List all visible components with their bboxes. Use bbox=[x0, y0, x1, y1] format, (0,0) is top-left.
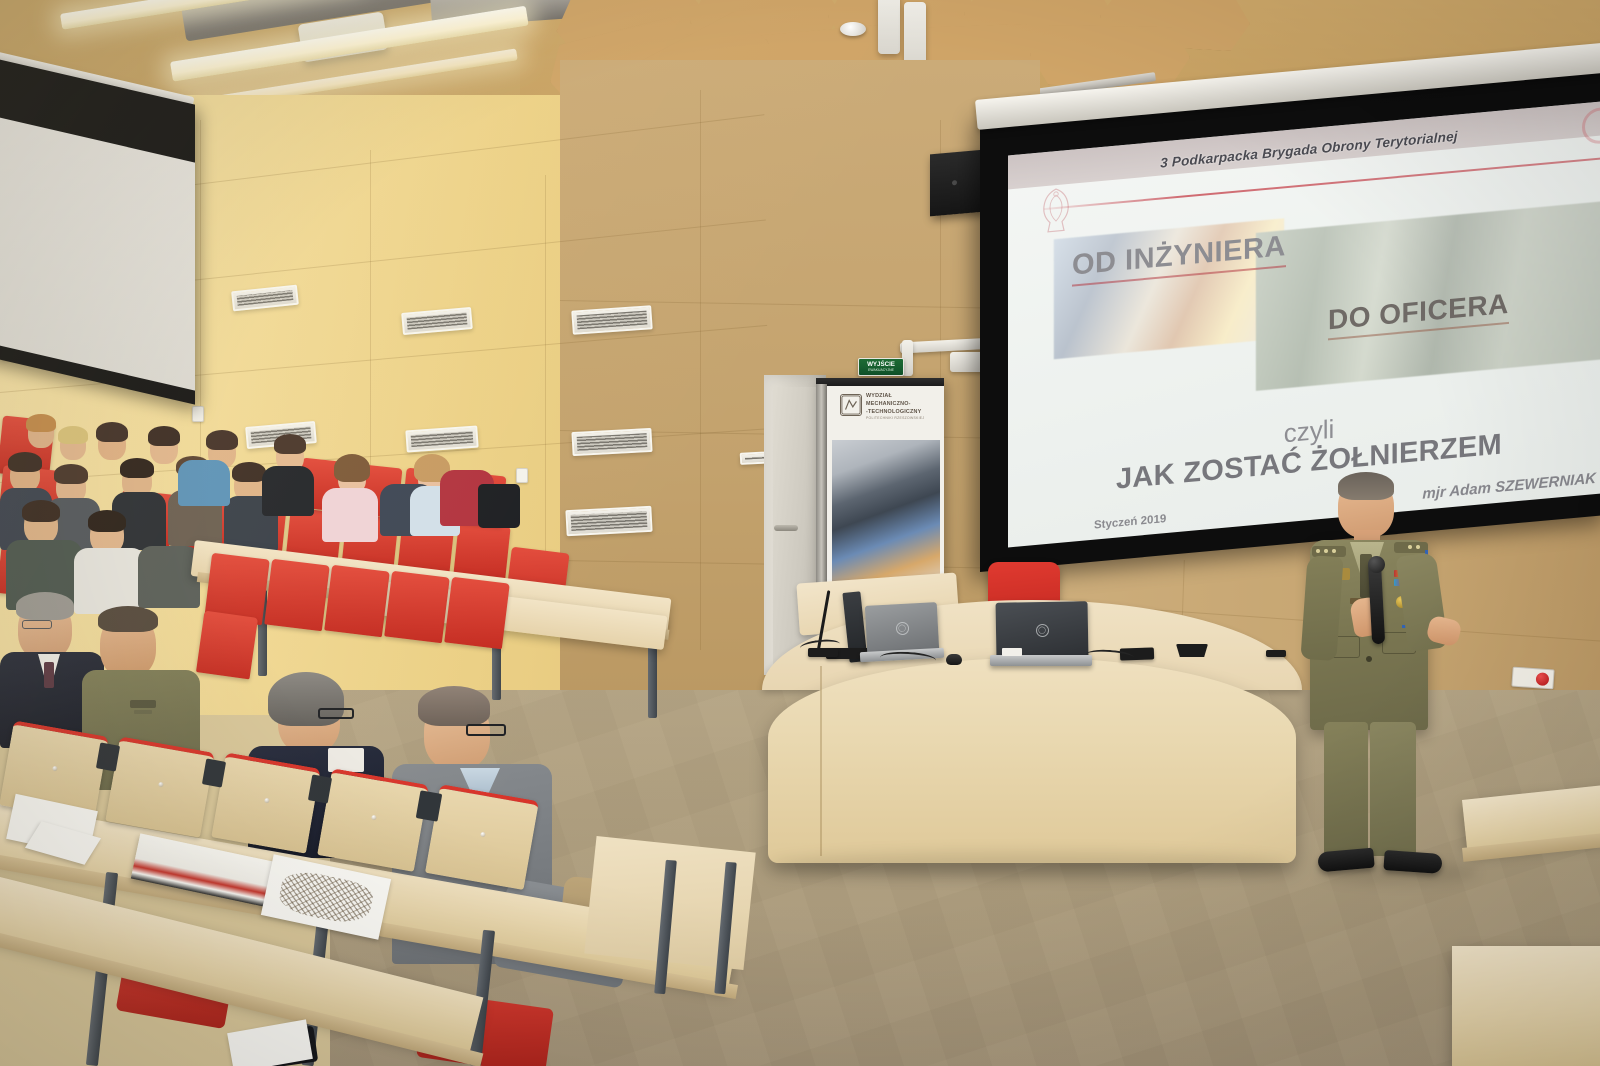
presenter-figure bbox=[1290, 470, 1480, 880]
exit-sign: WYJŚCIE EWAKUACYJNE bbox=[858, 358, 904, 376]
panel-seam bbox=[545, 175, 546, 565]
laptop-silver[interactable]: ◯ bbox=[865, 602, 939, 654]
rank-insignia bbox=[130, 700, 156, 708]
audience-hair bbox=[274, 434, 306, 454]
front-row-shirt-3 bbox=[328, 748, 364, 772]
pendant-light bbox=[878, 0, 900, 54]
dell-logo-icon: ◯ bbox=[1035, 623, 1048, 636]
audience-hair bbox=[8, 452, 42, 472]
rank-star-icon bbox=[1332, 549, 1336, 553]
lectern-front-panel bbox=[768, 658, 1296, 863]
banner-text-block: WYDZIAŁ MECHANICZNO- -TECHNOLOGICZNY POL… bbox=[866, 393, 940, 421]
smoke-detector-icon bbox=[840, 22, 866, 36]
audience-torso bbox=[138, 546, 200, 608]
auditorium-seat[interactable] bbox=[264, 559, 330, 632]
presenter-hair bbox=[1338, 472, 1394, 500]
remote-clicker[interactable] bbox=[1266, 650, 1286, 657]
banner-subtitle: POLITECHNIKI RZESZOWSKIEJ bbox=[866, 416, 940, 421]
presenter-trouser-right bbox=[1370, 722, 1416, 856]
light-switch[interactable] bbox=[192, 406, 204, 422]
pendant-light bbox=[904, 2, 926, 68]
auditorium-seat[interactable] bbox=[196, 611, 258, 680]
eyeglasses-icon bbox=[318, 708, 354, 719]
laptop-black-base bbox=[990, 655, 1092, 666]
exit-sign-line2: EWAKUACYJNE bbox=[868, 368, 894, 372]
eyeglasses-icon bbox=[466, 724, 506, 736]
banner-line3: -TECHNOLOGICZNY bbox=[866, 409, 940, 417]
lectern-panel-seam bbox=[820, 666, 822, 856]
front-row-hair-2 bbox=[98, 606, 158, 632]
polish-eagle-emblem bbox=[1036, 183, 1076, 239]
rank-insignia bbox=[134, 710, 152, 714]
audience-hair bbox=[88, 510, 126, 532]
emergency-stop-button[interactable] bbox=[1511, 667, 1554, 690]
presenter-shoe bbox=[1317, 848, 1375, 873]
audience-torso bbox=[262, 466, 314, 516]
desk-leg bbox=[648, 640, 657, 718]
wall-vent-grille bbox=[565, 506, 652, 536]
wooden-seat-back[interactable] bbox=[105, 736, 214, 837]
wooden-seat-back[interactable] bbox=[211, 752, 320, 853]
auditorium-seat[interactable] bbox=[453, 521, 510, 580]
auditorium-seat[interactable] bbox=[444, 577, 510, 650]
front-row-hair-4 bbox=[418, 686, 490, 726]
wooden-seat-back[interactable] bbox=[317, 768, 429, 872]
rank-star-icon bbox=[1324, 549, 1328, 553]
banner-top-rail bbox=[816, 378, 944, 386]
cable-connector bbox=[1176, 644, 1208, 657]
left-screen-surface bbox=[0, 113, 195, 391]
dell-logo-icon: ◯ bbox=[895, 621, 909, 635]
audience-hair bbox=[58, 426, 88, 444]
emergency-stop-dot-icon bbox=[1536, 672, 1550, 686]
foreground-desk-right-lower bbox=[1452, 946, 1600, 1066]
door-handle[interactable] bbox=[774, 525, 798, 531]
map-ink-detail bbox=[277, 867, 375, 928]
paper-sheet bbox=[227, 1019, 313, 1066]
rank-star-icon bbox=[1408, 545, 1412, 549]
audience-hair bbox=[232, 462, 266, 482]
faculty-logo-icon bbox=[840, 394, 862, 416]
audience-torso bbox=[178, 460, 230, 506]
presenter-shoe bbox=[1383, 850, 1442, 874]
banner-line2: MECHANICZNO- bbox=[866, 401, 940, 409]
audience-hair bbox=[206, 430, 238, 450]
rollup-banner: WYDZIAŁ MECHANICZNO- -TECHNOLOGICZNY POL… bbox=[816, 378, 944, 598]
microphone-head-icon bbox=[1368, 556, 1385, 573]
wall-vent-grille bbox=[571, 428, 652, 456]
left-projection-screen bbox=[0, 55, 195, 405]
slide-date-text: Styczeń 2019 bbox=[1094, 513, 1166, 532]
wooden-seat-back[interactable] bbox=[425, 784, 539, 890]
audience-hair bbox=[148, 426, 180, 446]
presenter-left-arm bbox=[1300, 555, 1343, 661]
computer-mouse[interactable] bbox=[946, 654, 962, 665]
front-row-hair-1 bbox=[16, 592, 74, 620]
audience-hair bbox=[334, 454, 370, 482]
banner-line1: WYDZIAŁ bbox=[866, 393, 940, 401]
audience-torso bbox=[74, 548, 146, 614]
auditorium-seat[interactable] bbox=[384, 571, 450, 644]
presenter-trouser-left bbox=[1324, 722, 1368, 856]
rank-star-icon bbox=[1316, 549, 1320, 553]
audience-torso bbox=[322, 488, 378, 542]
audience-hair bbox=[120, 458, 154, 478]
lecture-hall-scene: 3 Podkarpacka Brygada Obrony Terytorialn… bbox=[0, 0, 1600, 1066]
jacket-button bbox=[1366, 656, 1372, 662]
wall-speaker bbox=[930, 150, 984, 217]
auditorium-seat[interactable] bbox=[324, 565, 390, 638]
front-row-tie-1 bbox=[44, 662, 54, 688]
audience-hair bbox=[54, 464, 88, 484]
audience-hair bbox=[22, 500, 60, 522]
rank-star-icon bbox=[1416, 545, 1420, 549]
light-switch[interactable] bbox=[516, 468, 528, 483]
panel-seam bbox=[700, 90, 701, 650]
laptop-asset-label bbox=[1002, 648, 1022, 656]
eyeglasses-icon bbox=[22, 620, 52, 629]
banner-side-pole bbox=[816, 384, 827, 598]
audience-hair bbox=[26, 414, 56, 432]
audience-hair bbox=[96, 422, 128, 442]
lectern-shadow bbox=[770, 852, 1290, 878]
audience-bag bbox=[478, 484, 520, 528]
